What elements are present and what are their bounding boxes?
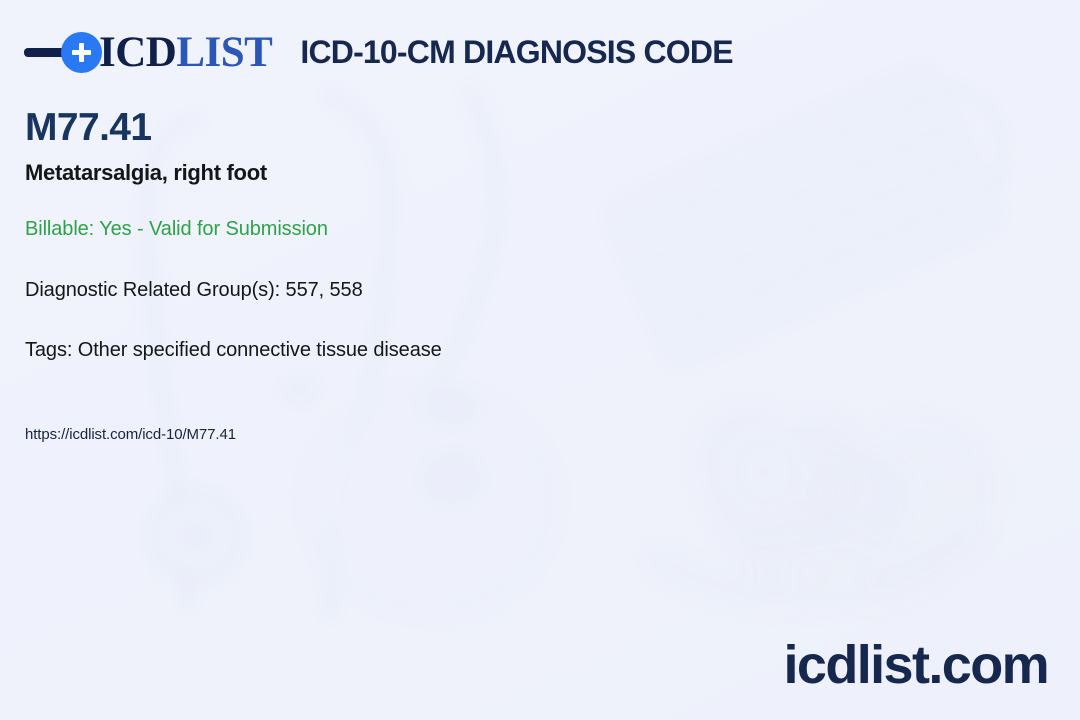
billable-status: Billable: Yes - Valid for Submission (25, 218, 1025, 240)
code-details: M77.41 Metatarsalgia, right foot Billabl… (25, 108, 1025, 444)
logo-wordmark-icd: ICD (99, 29, 176, 76)
footer-brand: icdlist.com (784, 638, 1048, 692)
logo-wordmark-list: LIST (176, 29, 272, 76)
icd-code: M77.41 (25, 108, 1025, 149)
code-tags: Tags: Other specified connective tissue … (25, 339, 1025, 361)
plus-icon (61, 32, 102, 73)
icdlist-logo[interactable]: ICDLIST (24, 26, 272, 78)
icd-code-card: ICDLIST ICD-10-CM DIAGNOSIS CODE M77.41 … (0, 0, 1080, 720)
page-header: ICDLIST ICD-10-CM DIAGNOSIS CODE (24, 26, 733, 78)
page-title: ICD-10-CM DIAGNOSIS CODE (300, 34, 732, 71)
source-url-link[interactable]: https://icdlist.com/icd-10/M77.41 (25, 427, 236, 444)
code-description: Metatarsalgia, right foot (25, 161, 1025, 185)
diagnostic-related-groups: Diagnostic Related Group(s): 557, 558 (25, 279, 1025, 301)
logo-wordmark: ICDLIST (99, 31, 272, 74)
